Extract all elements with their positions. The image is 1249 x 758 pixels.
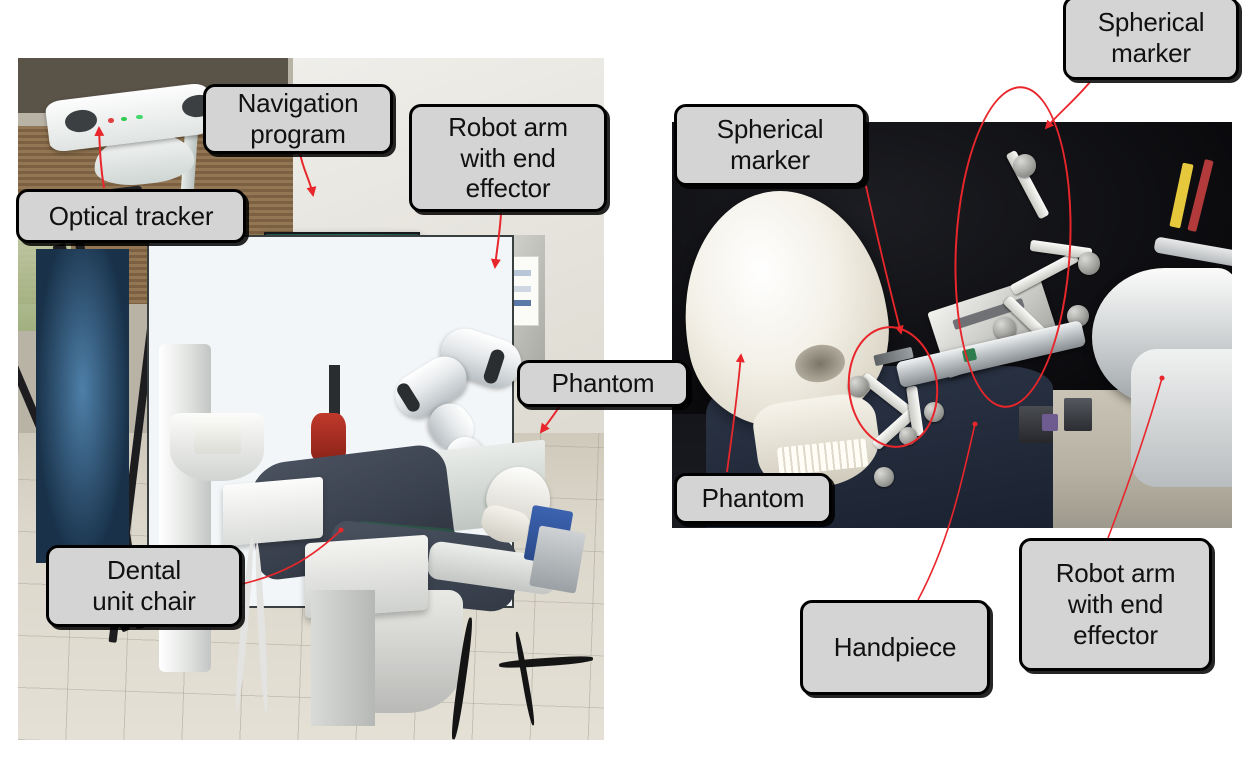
- grey-control-box: [529, 525, 586, 594]
- spherical-marker-ball-1: [848, 376, 868, 396]
- callout-navigation-program[interactable]: Navigation program: [203, 84, 393, 154]
- callout-dental-unit-chair[interactable]: Dental unit chair: [46, 545, 242, 627]
- callout-spherical-marker-left[interactable]: Spherical marker: [674, 104, 866, 186]
- callout-spherical-marker-top[interactable]: Spherical marker: [1063, 0, 1239, 80]
- dental-unit-tray: [223, 476, 323, 546]
- callout-optical-tracker[interactable]: Optical tracker: [16, 189, 246, 243]
- monitor-ct-view: [36, 249, 130, 563]
- callout-phantom-left[interactable]: Phantom: [517, 360, 689, 407]
- spherical-marker-ball-6: [1078, 252, 1100, 275]
- callout-robot-arm-with-end-effector-right[interactable]: Robot arm with end effector: [1019, 538, 1212, 671]
- red-canister: [311, 413, 346, 461]
- callout-handpiece[interactable]: Handpiece: [800, 600, 990, 695]
- robot-wrist-body: [1131, 349, 1232, 487]
- spherical-marker-ball-5: [1014, 154, 1036, 177]
- callout-robot-arm-with-end-effector-left[interactable]: Robot arm with end effector: [409, 104, 607, 212]
- tracker-led-red: [108, 118, 114, 123]
- callout-phantom-right[interactable]: Phantom: [674, 473, 832, 524]
- spherical-marker-ball-3: [874, 467, 894, 487]
- tracker-led-green-2: [136, 115, 142, 120]
- mount-clamp-2: [1064, 398, 1092, 430]
- dental-unit-cups: [194, 419, 241, 453]
- mount-knob: [1042, 414, 1059, 430]
- spherical-marker-ball-4: [899, 427, 917, 445]
- figure-root: Navigation program Optical tracker Robot…: [0, 0, 1249, 758]
- dental-unit-pillar: [311, 590, 375, 726]
